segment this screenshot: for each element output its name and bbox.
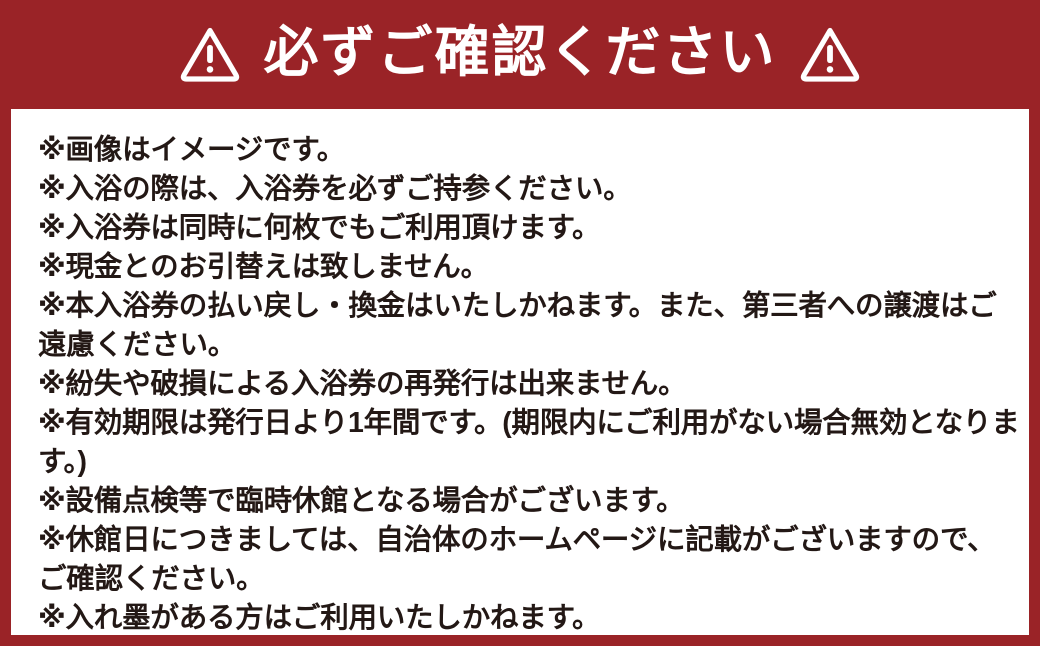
list-item: ※入浴券は同時に何枚でもご利用頂けます。 xyxy=(38,209,1021,248)
notice-body-panel: ※画像はイメージです。 ※入浴の際は、入浴券を必ずご持参ください。 ※入浴券は同… xyxy=(11,109,1029,635)
list-item: ※画像はイメージです。 xyxy=(38,131,1021,170)
notice-card: 必ずご確認ください ※画像はイメージです。 ※入浴の際は、入浴券を必ずご持参くだ… xyxy=(0,0,1040,646)
list-item: ※現金とのお引替えは致しません。 xyxy=(38,248,1021,287)
list-item: ※有効期限は発行日より1年間です。(期限内にご利用がない場合無効となります。) xyxy=(38,404,1021,482)
list-item: ※紛失や破損による入浴券の再発行は出来ません。 xyxy=(38,365,1021,404)
notice-header: 必ずご確認ください xyxy=(0,0,1040,108)
list-item: ※入れ墨がある方はご利用いたしかねます。 xyxy=(38,599,1021,635)
list-item: ※設備点検等で臨時休館となる場合がございます。 xyxy=(38,482,1021,521)
list-item: ※休館日につきましては、自治体のホームページに記載がございますので、ご確認くださ… xyxy=(38,521,1021,599)
list-item: ※本入浴券の払い戻し・換金はいたしかねます。また、第三者への譲渡はご遠慮ください… xyxy=(38,287,1021,365)
notice-list: ※画像はイメージです。 ※入浴の際は、入浴券を必ずご持参ください。 ※入浴券は同… xyxy=(38,131,1021,635)
list-item: ※入浴の際は、入浴券を必ずご持参ください。 xyxy=(38,170,1021,209)
warning-triangle-icon-right xyxy=(799,25,861,83)
warning-triangle-icon-left xyxy=(179,25,241,83)
page-title: 必ずご確認ください xyxy=(263,25,776,84)
